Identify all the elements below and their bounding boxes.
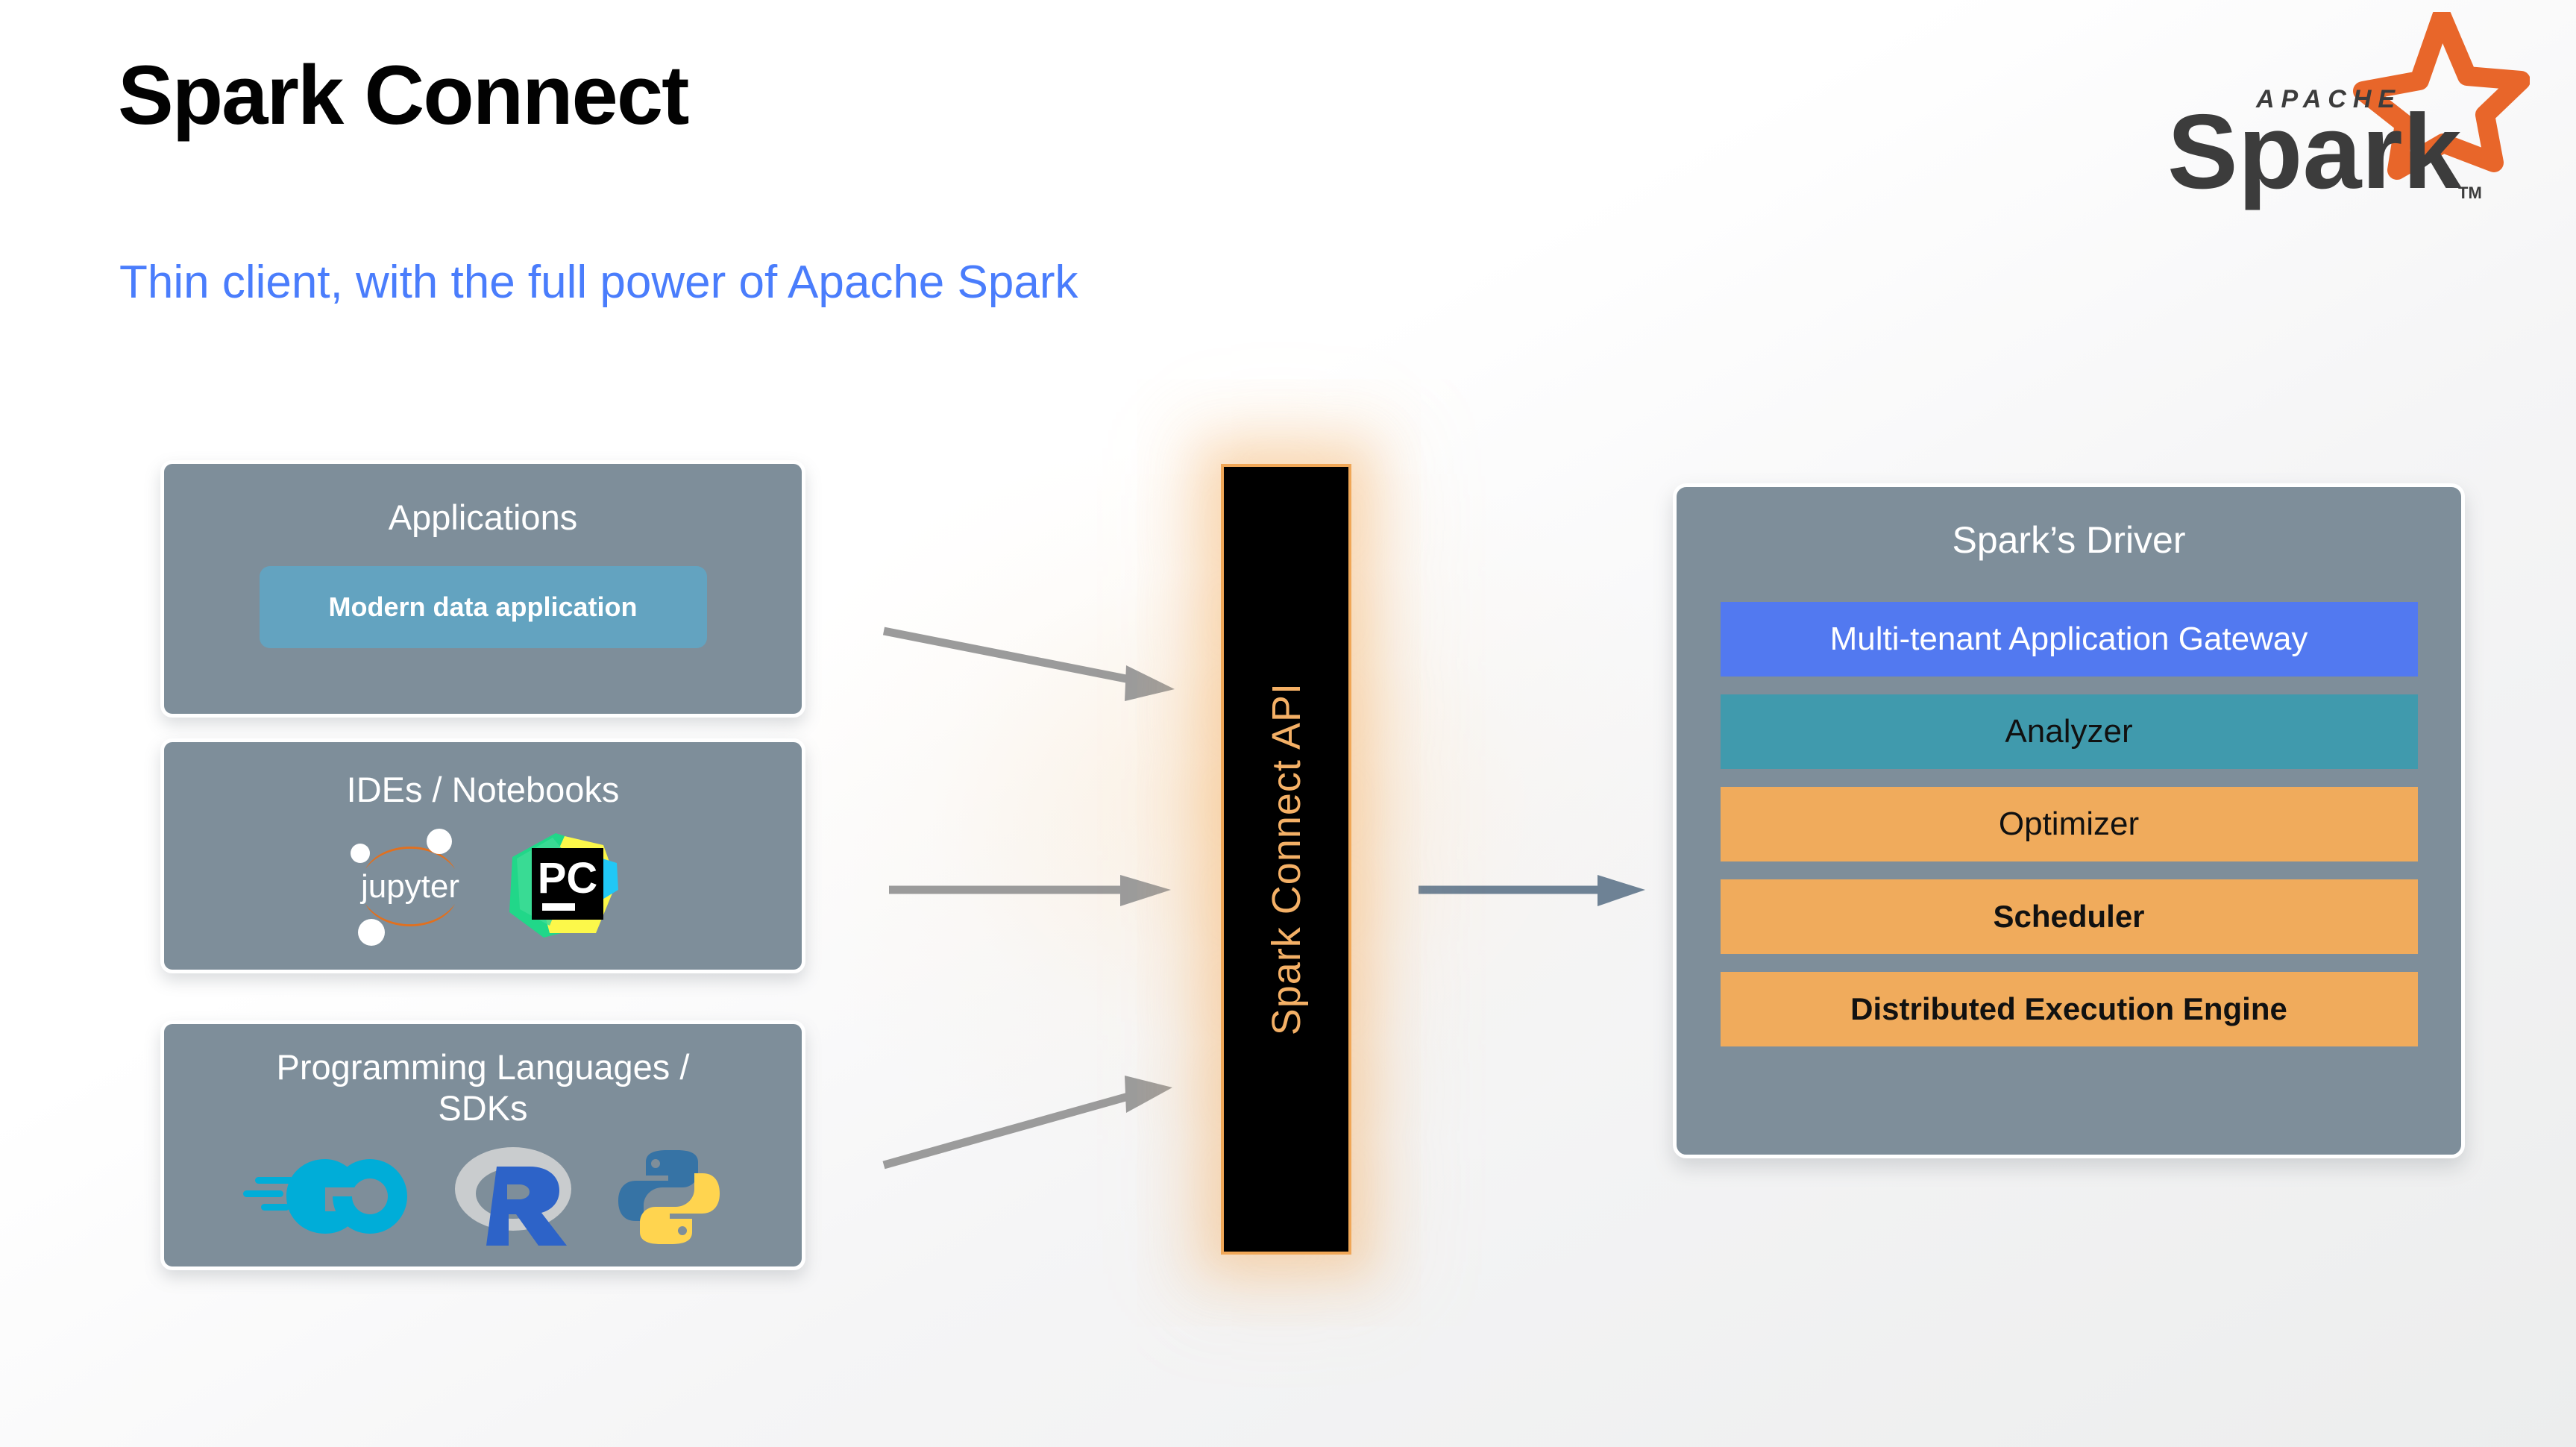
go-logo	[242, 1149, 413, 1249]
spark-driver-panel[interactable]: Spark’s Driver Multi-tenant Application …	[1673, 483, 2465, 1158]
panel-ides-notebooks[interactable]: IDEs / Notebooks jupyter PC	[160, 738, 805, 973]
jupyter-logo: jupyter	[347, 822, 474, 952]
panel-ides-title: IDEs / Notebooks	[164, 769, 802, 810]
spark-driver-title: Spark’s Driver	[1952, 518, 2185, 562]
apache-spark-logo: APACHE Spark TM	[2157, 12, 2530, 213]
spark-connect-api-bar[interactable]: Spark Connect API	[1221, 464, 1351, 1255]
modern-data-application-box[interactable]: Modern data application	[260, 566, 707, 648]
pycharm-logo: PC	[506, 829, 620, 946]
spark-wordmark: Spark	[2167, 92, 2463, 211]
driver-row-execution-engine[interactable]: Distributed Execution Engine	[1721, 972, 2418, 1046]
driver-row-analyzer[interactable]: Analyzer	[1721, 694, 2418, 769]
language-logo-row	[242, 1141, 725, 1257]
r-logo	[446, 1141, 580, 1257]
arrow-languages-to-api	[880, 1067, 1193, 1171]
arrow-ides-to-api	[888, 869, 1186, 914]
page-title: Spark Connect	[118, 54, 688, 137]
driver-row-scheduler[interactable]: Scheduler	[1721, 879, 2418, 954]
arrow-api-to-driver	[1417, 869, 1656, 914]
jupyter-wordmark: jupyter	[359, 868, 459, 905]
arrow-applications-to-api	[880, 627, 1193, 723]
driver-row-gateway[interactable]: Multi-tenant Application Gateway	[1721, 602, 2418, 677]
panel-applications[interactable]: Applications Modern data application	[160, 460, 805, 718]
panel-programming-languages-sdks[interactable]: Programming Languages / SDKs	[160, 1020, 805, 1270]
driver-row-optimizer[interactable]: Optimizer	[1721, 787, 2418, 861]
panel-applications-title: Applications	[164, 497, 802, 538]
panel-langs-title-line2: SDKs	[164, 1087, 802, 1129]
page-subtitle: Thin client, with the full power of Apac…	[119, 260, 1078, 306]
trademark-mark: TM	[2458, 183, 2482, 202]
python-logo	[613, 1141, 725, 1257]
ide-logo-row: jupyter PC	[347, 822, 620, 952]
pycharm-wordmark: PC	[537, 854, 597, 903]
panel-langs-title-line1: Programming Languages /	[164, 1046, 802, 1087]
spark-connect-api-label: Spark Connect API	[1263, 682, 1310, 1035]
